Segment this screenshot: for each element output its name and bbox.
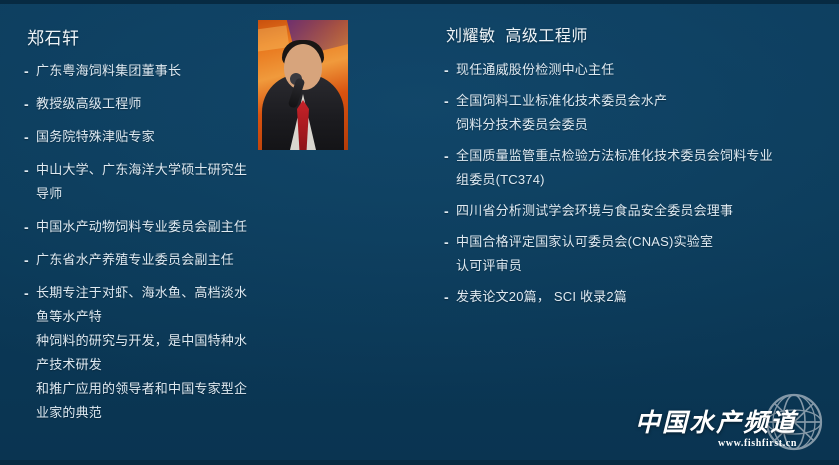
watermark-brand: 中国水产频道 (635, 411, 797, 436)
list-item-text: 中国合格评定国家认可委员会(CNAS)实验室 认可评审员 (456, 230, 826, 278)
list-item-text: 广东省水产养殖专业委员会副主任 (36, 248, 256, 272)
watermark-text-group: 中国水产频道 www.fishfirst.cn (635, 411, 797, 449)
list-item-text: 中山大学、广东海洋大学硕士研究生导师 (36, 158, 256, 206)
list-item: - 全国饲料工业标准化技术委员会水产 饲料分技术委员会委员 (444, 89, 826, 137)
bullet-marker: - (24, 281, 36, 305)
right-person-name: 刘耀敏 高级工程师 (446, 22, 588, 46)
left-person-photo (258, 20, 348, 150)
list-item-text: 发表论文20篇， SCI 收录2篇 (456, 285, 826, 309)
top-edge-band (0, 0, 839, 4)
bullet-marker: - (444, 285, 456, 309)
bullet-marker: - (444, 144, 456, 168)
left-bullet-list: - 广东粤海饲料集团董事长 - 教授级高级工程师 - 国务院特殊津贴专家 - 中… (24, 59, 256, 434)
list-item: - 发表论文20篇， SCI 收录2篇 (444, 285, 826, 309)
list-item: - 全国质量监管重点检验方法标准化技术委员会饲料专业 组委员(TC374) (444, 144, 826, 192)
list-item: - 中国水产动物饲料专业委员会副主任 (24, 215, 256, 239)
list-item-text: 现任通威股份检测中心主任 (456, 58, 826, 82)
list-item-text: 中国水产动物饲料专业委员会副主任 (36, 215, 256, 239)
list-item: - 国务院特殊津贴专家 (24, 125, 256, 149)
list-item-text: 长期专注于对虾、海水鱼、高档淡水鱼等水产特 种饲料的研究与开发，是中国特种水产技… (36, 281, 256, 425)
list-item: - 长期专注于对虾、海水鱼、高档淡水鱼等水产特 种饲料的研究与开发，是中国特种水… (24, 281, 256, 425)
list-item: - 教授级高级工程师 (24, 92, 256, 116)
bottom-edge-band (0, 460, 839, 465)
bullet-marker: - (24, 215, 36, 239)
list-item-text: 教授级高级工程师 (36, 92, 256, 116)
list-item: - 中山大学、广东海洋大学硕士研究生导师 (24, 158, 256, 206)
left-person-name: 郑石轩 (27, 24, 80, 49)
list-item: - 四川省分析测试学会环境与食品安全委员会理事 (444, 199, 826, 223)
list-item-text: 全国质量监管重点检验方法标准化技术委员会饲料专业 组委员(TC374) (456, 144, 826, 192)
bullet-marker: - (24, 59, 36, 83)
presentation-slide: 郑石轩 - 广东粤海饲料集团董事长 - 教授级高级工程师 - 国务院特殊津贴专家… (0, 0, 839, 465)
channel-watermark: 中国水产频道 www.fishfirst.cn (615, 393, 825, 455)
bullet-marker: - (24, 248, 36, 272)
left-profile-column: 郑石轩 - 广东粤海饲料集团董事长 - 教授级高级工程师 - 国务院特殊津贴专家… (0, 0, 420, 465)
bullet-marker: - (444, 199, 456, 223)
list-item: - 现任通威股份检测中心主任 (444, 58, 826, 82)
list-item-text: 国务院特殊津贴专家 (36, 125, 256, 149)
list-item: - 中国合格评定国家认可委员会(CNAS)实验室 认可评审员 (444, 230, 826, 278)
list-item-text: 四川省分析测试学会环境与食品安全委员会理事 (456, 199, 826, 223)
bullet-marker: - (444, 58, 456, 82)
list-item: - 广东省水产养殖专业委员会副主任 (24, 248, 256, 272)
list-item-text: 广东粤海饲料集团董事长 (36, 59, 256, 83)
bullet-marker: - (24, 125, 36, 149)
bullet-marker: - (24, 92, 36, 116)
bullet-marker: - (444, 230, 456, 254)
list-item: - 广东粤海饲料集团董事长 (24, 59, 256, 83)
watermark-url: www.fishfirst.cn (635, 438, 797, 449)
list-item-text: 全国饲料工业标准化技术委员会水产 饲料分技术委员会委员 (456, 89, 826, 137)
right-bullet-list: - 现任通威股份检测中心主任 - 全国饲料工业标准化技术委员会水产 饲料分技术委… (444, 58, 826, 316)
bullet-marker: - (24, 158, 36, 182)
bullet-marker: - (444, 89, 456, 113)
